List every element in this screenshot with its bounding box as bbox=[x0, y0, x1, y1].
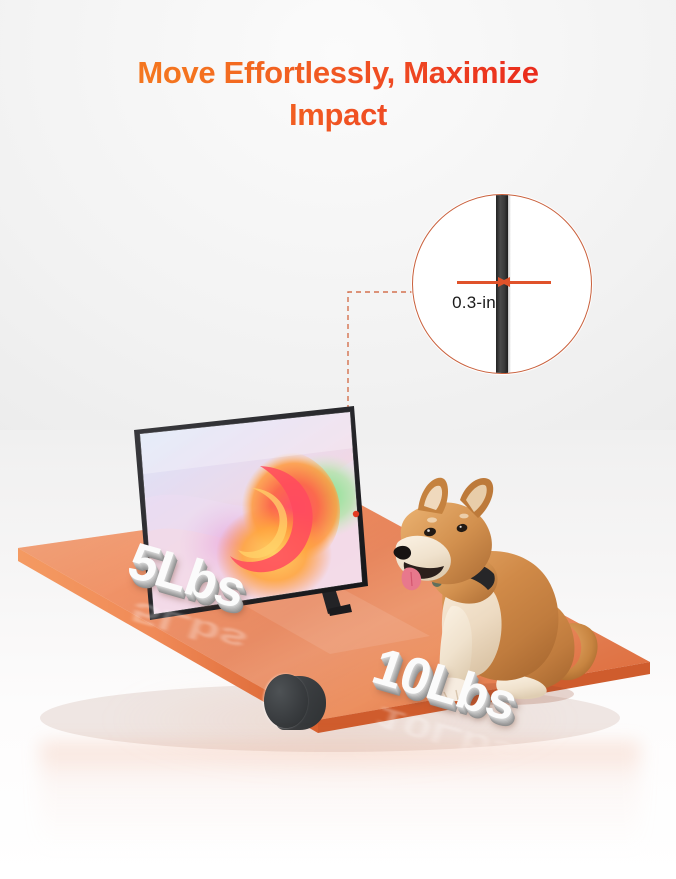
page-title: Move Effortlessly, Maximize Impact bbox=[0, 52, 676, 136]
arrow-right-icon bbox=[457, 281, 499, 284]
fulcrum-pivot bbox=[264, 672, 332, 734]
thickness-label: 0.3-in bbox=[435, 293, 513, 313]
arrow-left-icon bbox=[509, 281, 551, 284]
fulcrum-face bbox=[264, 674, 308, 728]
floor-reflection bbox=[40, 742, 640, 852]
thickness-callout: 0.3-in bbox=[412, 194, 592, 374]
product-marketing-image: Move Effortlessly, Maximize Impact 0.3-i… bbox=[0, 0, 676, 879]
headline-line-1: Move Effortlessly, Maximize bbox=[137, 55, 538, 90]
headline-line-2: Impact bbox=[0, 94, 676, 136]
